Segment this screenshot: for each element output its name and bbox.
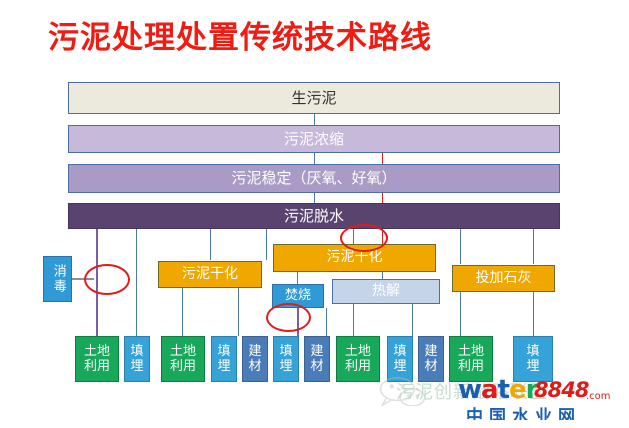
annotation-ellipse-drying <box>340 224 388 252</box>
logo-letter-w: w <box>458 377 481 403</box>
disposal-label-line2: 材 <box>310 360 323 374</box>
water8848-logo: water <box>458 377 537 403</box>
disposal-box-4[interactable]: 填 埋 <box>211 336 237 382</box>
treatment-label: 消毒 <box>50 264 65 294</box>
disposal-box-2[interactable]: 填 埋 <box>124 336 150 382</box>
disposal-label-line1: 填 <box>217 345 230 359</box>
disposal-label-line1: 填 <box>279 345 292 359</box>
stage-label: 生污泥 <box>291 90 336 106</box>
disposal-label-line2: 利用 <box>345 360 371 374</box>
connector-dewatering-drop-3 <box>210 228 211 260</box>
disposal-label-line1: 填 <box>393 345 406 359</box>
disposal-label-line1: 土地 <box>458 345 484 359</box>
disposal-label-line1: 建 <box>248 345 261 359</box>
treatment-box-disinfection[interactable]: 消毒 <box>43 256 72 302</box>
connector-drying-left-out-2 <box>238 288 239 336</box>
connector-lime-out-2 <box>533 292 534 336</box>
disposal-label-line2: 埋 <box>130 360 143 374</box>
connector-drying-left-out-1 <box>182 288 183 336</box>
annotation-ellipse-incineration <box>266 303 311 332</box>
treatment-box-lime-addition[interactable]: 投加石灰 <box>452 265 555 292</box>
treatment-box-drying-left[interactable]: 污泥干化 <box>158 261 262 288</box>
disposal-label-line2: 埋 <box>393 360 406 374</box>
treatment-box-pyrolysis[interactable]: 热解 <box>332 279 440 304</box>
stage-box-stabilization[interactable]: 污泥稳定（厌氧、好氧） <box>68 164 560 193</box>
stage-label: 污泥稳定（厌氧、好氧） <box>231 170 396 186</box>
connector-dewatering-drop-4 <box>266 228 267 260</box>
stage-label: 污泥浓缩 <box>284 131 344 147</box>
disposal-label-line1: 填 <box>130 345 143 359</box>
stage-box-dewatering[interactable]: 污泥脱水 <box>68 203 560 229</box>
bottom-spacer <box>0 420 629 428</box>
stage-label: 污泥脱水 <box>284 208 344 224</box>
logo-letter-e: e <box>509 377 526 403</box>
connector-incineration-out-2 <box>326 308 327 336</box>
disposal-label-line2: 利用 <box>84 360 110 374</box>
logo-tld: .com <box>586 392 611 402</box>
logo-number: 8848 <box>534 380 588 401</box>
disposal-label-line2: 材 <box>248 360 261 374</box>
treatment-label: 焚烧 <box>285 289 311 303</box>
disposal-label-line2: 利用 <box>170 360 196 374</box>
disposal-box-7[interactable]: 建 材 <box>304 336 330 382</box>
connector-lime-out-1 <box>460 292 461 336</box>
connector-dewatering-drop-6 <box>460 228 461 264</box>
page-title: 污泥处理处置传统技术路线 <box>48 12 432 57</box>
disposal-label-line1: 建 <box>310 345 323 359</box>
logo-letter-a: a <box>481 377 498 403</box>
slide-canvas: 污泥处理处置传统技术路线 生污泥 污泥浓缩 污泥稳定（厌氧、好氧） 污泥脱水 <box>0 0 629 428</box>
disposal-label-line1: 建 <box>424 345 437 359</box>
disposal-label-line2: 埋 <box>279 360 292 374</box>
disposal-box-6[interactable]: 填 埋 <box>273 336 299 382</box>
stage-box-raw-sludge[interactable]: 生污泥 <box>68 82 560 114</box>
treatment-label: 污泥干化 <box>182 267 238 282</box>
disposal-box-3[interactable]: 土地 利用 <box>161 336 205 382</box>
treatment-label: 污泥干化 <box>327 250 383 265</box>
disposal-label-line1: 土地 <box>345 345 371 359</box>
disposal-box-9[interactable]: 填 埋 <box>387 336 413 382</box>
disposal-label-line2: 材 <box>424 360 437 374</box>
connector-pyrolysis-out-1 <box>353 304 354 336</box>
stage-box-thickening[interactable]: 污泥浓缩 <box>68 125 560 153</box>
connector-dewatering-drop-7 <box>533 228 534 264</box>
disposal-label-line2: 利用 <box>458 360 484 374</box>
connector-dewatering-drop-2 <box>136 228 137 336</box>
annotation-ellipse-disinfection <box>84 264 130 295</box>
connector-drying-right-to-pyrolysis <box>382 272 383 279</box>
disposal-label-line2: 埋 <box>526 360 539 374</box>
disposal-label-line2: 埋 <box>217 360 230 374</box>
disposal-box-8[interactable]: 土地 利用 <box>336 336 380 382</box>
disposal-label-line1: 填 <box>526 345 539 359</box>
logo-letter-t: t <box>498 377 509 403</box>
disposal-label-line1: 土地 <box>84 345 110 359</box>
disposal-box-5[interactable]: 建 材 <box>242 336 268 382</box>
treatment-label: 投加石灰 <box>476 271 532 286</box>
connector-pyrolysis-out-2 <box>412 304 413 336</box>
disposal-box-1[interactable]: 土地 利用 <box>75 336 119 382</box>
disposal-label-line1: 土地 <box>170 345 196 359</box>
connector-drying-right-to-incineration <box>297 272 298 284</box>
disposal-box-10[interactable]: 建 材 <box>418 336 444 382</box>
treatment-label: 热解 <box>372 284 400 299</box>
